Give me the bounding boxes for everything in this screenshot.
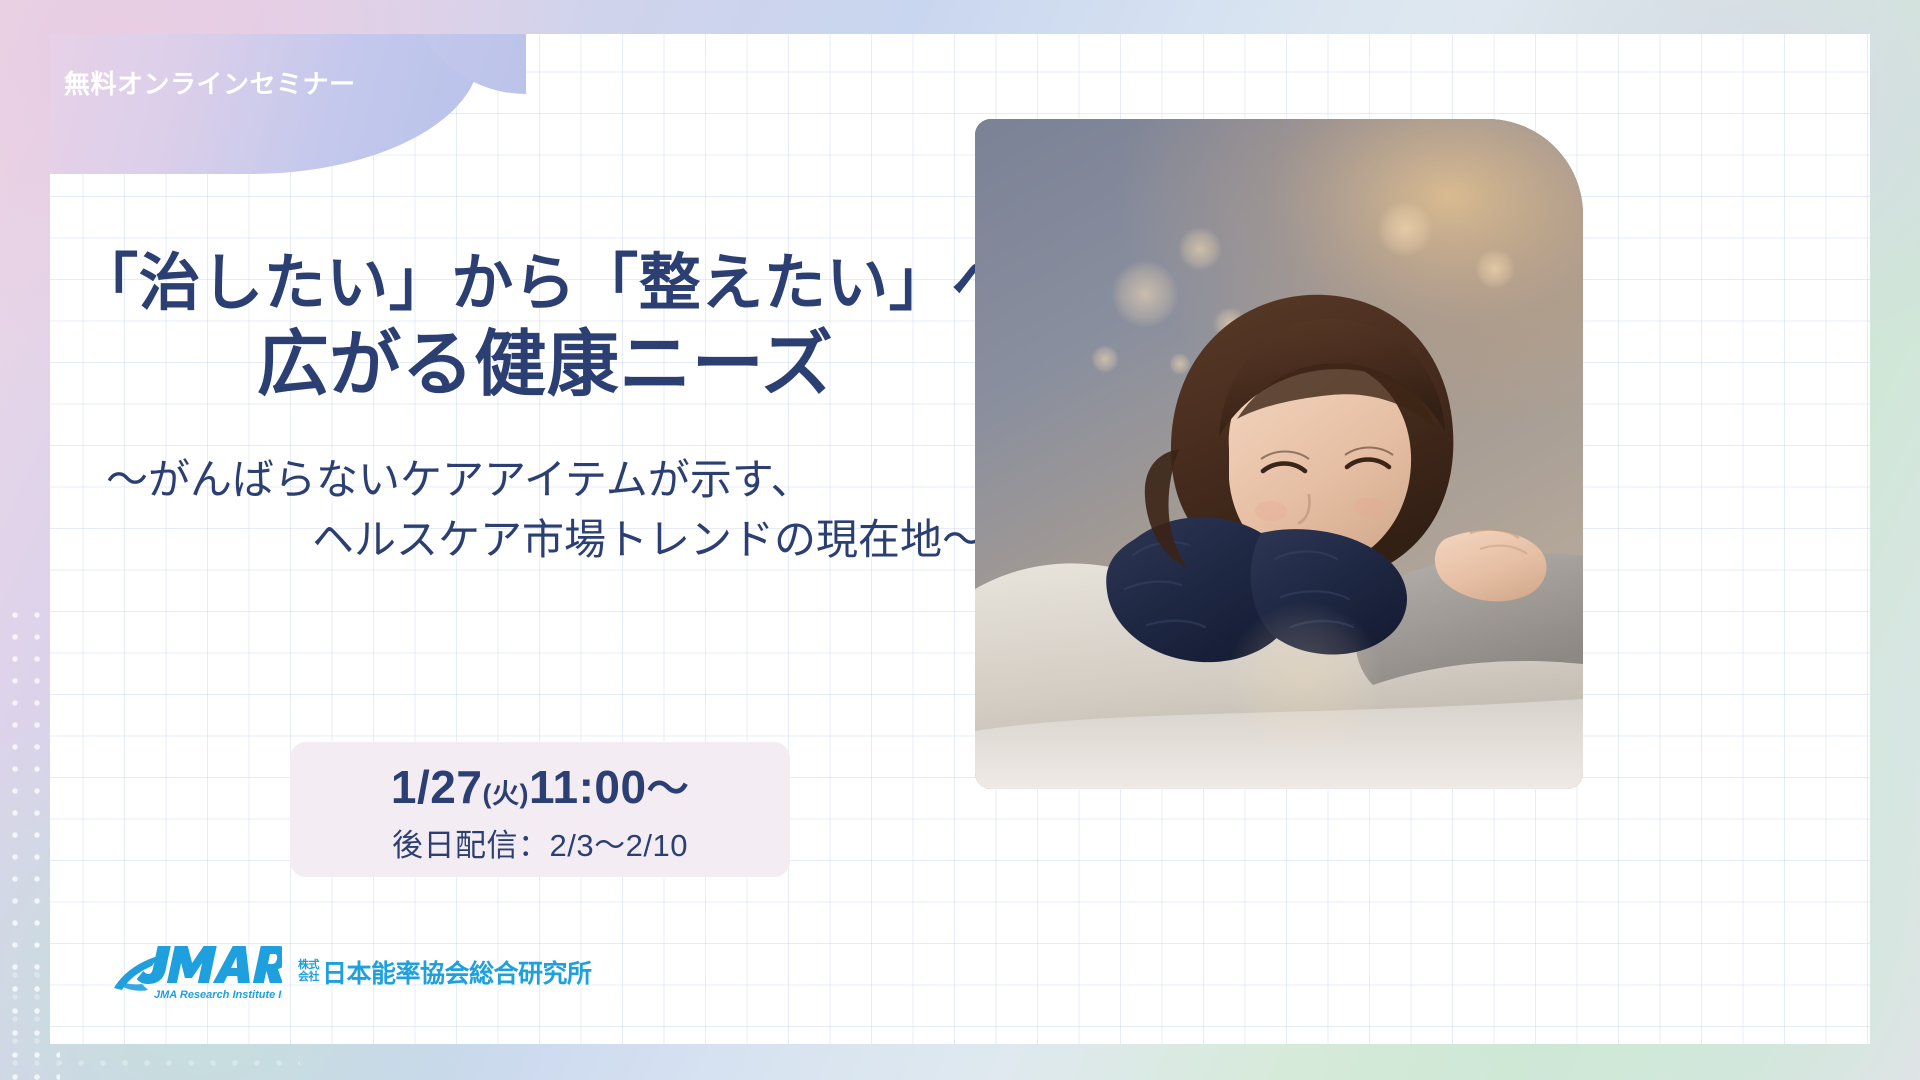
hero-photo (975, 119, 1583, 789)
logo-row: JMA Research Institute Inc 株式 会社 日本能率協会総… (112, 940, 592, 1002)
schedule-day-of-week: (火) (482, 772, 528, 811)
title-line-1: 「治したい」から「整えたい」へ (50, 248, 1040, 320)
subtitle-block: 〜がんばらないケアアイテムが示す、 ヘルスケア市場トレンドの現在地〜 (50, 452, 1040, 571)
company-name-block: 株式 会社 日本能率協会総合研究所 (298, 954, 592, 990)
title-line-2: 広がる健康ニーズ (50, 324, 1040, 408)
main-card: 無料オンラインセミナー 「治したい」から「整えたい」へ 広がる健康ニーズ 〜がん… (50, 34, 1870, 1044)
company-prefix-line2: 会社 (298, 972, 319, 984)
schedule-box: 1/27(火)11:00〜 後日配信：2/3〜2/10 (290, 742, 790, 877)
photo-illustration (975, 119, 1583, 789)
company-prefix: 株式 会社 (298, 960, 319, 983)
company-name: 日本能率協会総合研究所 (322, 954, 592, 990)
schedule-time-suffix: 〜 (647, 755, 690, 816)
subtitle-line-1: 〜がんばらないケアアイテムが示す、 (50, 452, 1040, 512)
seminar-banner: 無料オンラインセミナー 「治したい」から「整えたい」へ 広がる健康ニーズ 〜がん… (0, 0, 1920, 1080)
schedule-date: 1/27 (391, 760, 483, 814)
schedule-datetime: 1/27(火)11:00〜 (391, 755, 689, 816)
schedule-time: 11:00 (529, 760, 647, 814)
title-block: 「治したい」から「整えたい」へ 広がる健康ニーズ (50, 248, 1040, 407)
jmar-logo-icon: JMA Research Institute Inc (112, 940, 282, 1002)
jmar-tagline: JMA Research Institute Inc (154, 989, 282, 1001)
subtitle-line-2: ヘルスケア市場トレンドの現在地〜 (50, 512, 1040, 572)
free-webinar-badge: 無料オンラインセミナー (64, 64, 356, 101)
schedule-archive: 後日配信：2/3〜2/10 (392, 820, 688, 865)
